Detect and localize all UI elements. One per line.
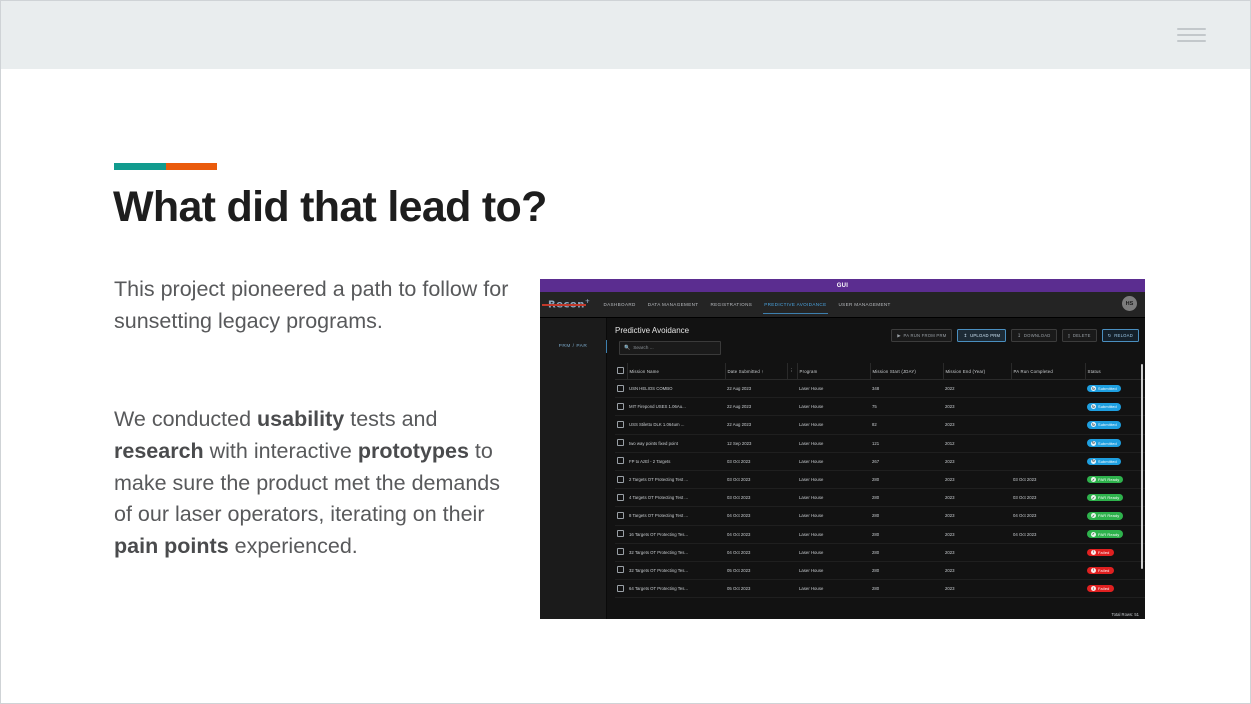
status-label: PAR Ready: [1098, 495, 1119, 500]
status-badge: ✓PAR Ready: [1087, 512, 1123, 520]
table-row[interactable]: FP to AzEl - 2 Targets03 Oct 2023Laser H…: [615, 452, 1145, 470]
cell-date-submitted: 22 Aug 2023: [725, 398, 787, 416]
nav-item-dashboard[interactable]: DASHBOARD: [602, 295, 636, 314]
cell-mission-name: 16 Targets OT Protecting Tes...: [627, 525, 725, 543]
accent-rule: [114, 163, 217, 170]
cell-mission-end: 2023: [943, 416, 1011, 434]
table-row[interactable]: 4 Targets OT Protecting Test ...03 Oct 2…: [615, 489, 1145, 507]
status-badge: ↻Submitted: [1087, 385, 1121, 393]
cell-status: ↻Submitted: [1085, 380, 1145, 398]
download-icon: ↧: [1017, 333, 1021, 339]
cell-pa-run-completed: [1011, 380, 1085, 398]
check-icon: ✓: [1091, 495, 1096, 500]
missions-table: Mission Name Date Submitted ↑ ⋮ Program …: [615, 363, 1145, 598]
col-mission-start[interactable]: Mission Start (JDAY): [870, 363, 943, 380]
cell-mission-end: 2023: [943, 507, 1011, 525]
para2-text-2: tests and: [344, 407, 437, 431]
upload-icon: ↥: [963, 333, 967, 339]
cell-pa-run-completed: [1011, 416, 1085, 434]
table-row[interactable]: 16 Targets OT Protecting Tes...04 Oct 20…: [615, 525, 1145, 543]
cell-mission-start: 280: [870, 470, 943, 488]
button-label: PA RUN FROM PRM: [903, 333, 946, 338]
cell-mission-name: 64 Targets OT Protecting Tes...: [627, 580, 725, 598]
para2-text-3: with interactive: [204, 439, 358, 463]
clock-icon: ↻: [1091, 422, 1096, 427]
button-label: DOWNLOAD: [1024, 333, 1051, 338]
cell-program: Laser House: [797, 561, 870, 579]
upload-prm-button[interactable]: ↥UPLOAD PRM: [957, 329, 1006, 342]
row-select-cell[interactable]: [615, 470, 627, 488]
clock-icon: ↻: [1091, 404, 1096, 409]
cell-program: Laser House: [797, 416, 870, 434]
col-date-submitted-label: Date Submitted: [728, 369, 760, 374]
status-badge: ↻Submitted: [1087, 421, 1121, 429]
cell-status: ↻Submitted: [1085, 416, 1145, 434]
status-badge: ✓PAR Ready: [1087, 476, 1123, 484]
row-checkbox[interactable]: [617, 421, 624, 428]
cell-program: Laser House: [797, 489, 870, 507]
slide-canvas: What did that lead to? This project pion…: [0, 0, 1251, 704]
cell-spacer: [787, 507, 797, 525]
cell-pa-run-completed: 03 Oct 2023: [1011, 470, 1085, 488]
cell-date-submitted: 04 Oct 2023: [725, 507, 787, 525]
para2-bold-research: research: [114, 439, 204, 463]
cell-status: ↻Submitted: [1085, 434, 1145, 452]
play-icon: ▶: [897, 333, 901, 339]
cell-spacer: [787, 452, 797, 470]
status-label: PAR Ready: [1098, 532, 1119, 537]
row-checkbox[interactable]: [617, 530, 624, 537]
cell-program: Laser House: [797, 398, 870, 416]
cell-mission-name: 8 Targets OT Protecting Test ...: [627, 507, 725, 525]
row-checkbox[interactable]: [617, 566, 624, 573]
table-row[interactable]: 8 Targets OT Protecting Test ...04 Oct 2…: [615, 507, 1145, 525]
status-badge: ↻Submitted: [1087, 403, 1121, 411]
cell-status: ✓PAR Ready: [1085, 525, 1145, 543]
app-sidebar: PRM / PAR: [540, 318, 607, 619]
table-row[interactable]: 2 Targets OT Protecting Test ...03 Oct 2…: [615, 470, 1145, 488]
reload-button[interactable]: ↻RELOAD: [1102, 329, 1139, 342]
total-rows-label: Total Rows: 51: [1112, 612, 1139, 617]
sort-asc-icon: ↑: [761, 369, 763, 374]
cell-pa-run-completed: [1011, 543, 1085, 561]
accent-rule-teal: [114, 163, 166, 170]
cell-spacer: [787, 434, 797, 452]
row-select-cell[interactable]: [615, 434, 627, 452]
cell-mission-name: 4 Targets OT Protecting Test ...: [627, 489, 725, 507]
cell-mission-start: 121: [870, 434, 943, 452]
cell-mission-name: 32 Targets OT Protecting Tes...: [627, 561, 725, 579]
cell-mission-start: 280: [870, 489, 943, 507]
cell-status: ✓PAR Ready: [1085, 507, 1145, 525]
pa-run-from-prm-button[interactable]: ▶PA RUN FROM PRM: [891, 329, 952, 342]
status-label: PAR Ready: [1098, 513, 1119, 518]
table-scrollbar[interactable]: [1141, 364, 1144, 569]
cell-pa-run-completed: [1011, 561, 1085, 579]
paragraph-intro: This project pioneered a path to follow …: [114, 274, 519, 338]
cell-mission-start: 280: [870, 543, 943, 561]
cell-mission-end: 2023: [943, 398, 1011, 416]
cell-mission-end: 2023: [943, 470, 1011, 488]
cell-pa-run-completed: 03 Oct 2023: [1011, 489, 1085, 507]
page-title: What did that lead to?: [113, 183, 813, 232]
app-screenshot: GUI Recon+ DASHBOARDDATA MANAGEMENTREGIS…: [540, 279, 1145, 619]
row-checkbox[interactable]: [617, 439, 624, 446]
cell-spacer: [787, 561, 797, 579]
cell-date-submitted: 05 Oct 2023: [725, 580, 787, 598]
col-menu[interactable]: ⋮: [787, 363, 797, 380]
hamburger-icon[interactable]: [1177, 28, 1206, 42]
status-label: Submitted: [1098, 386, 1117, 391]
app-toolbar-buttons: ▶PA RUN FROM PRM↥UPLOAD PRM↧DOWNLOAD▯DEL…: [891, 329, 1139, 342]
cell-status: !Failed: [1085, 543, 1145, 561]
cell-mission-start: 267: [870, 452, 943, 470]
row-checkbox[interactable]: [617, 548, 624, 555]
app-toolbar-row: 🔍 Search ... ▶PA RUN FROM PRM↥UPLOAD PRM…: [615, 341, 1139, 355]
cell-mission-end: 2012: [943, 434, 1011, 452]
status-badge: ✓PAR Ready: [1087, 530, 1123, 538]
cell-mission-start: 280: [870, 507, 943, 525]
table-header-row: Mission Name Date Submitted ↑ ⋮ Program …: [615, 363, 1145, 380]
reload-icon: ↻: [1108, 333, 1112, 339]
cell-mission-end: 2023: [943, 525, 1011, 543]
cell-mission-end: 2023: [943, 489, 1011, 507]
cell-spacer: [787, 416, 797, 434]
cell-program: Laser House: [797, 380, 870, 398]
row-checkbox[interactable]: [617, 476, 624, 483]
cell-pa-run-completed: [1011, 398, 1085, 416]
missions-table-body: USN HELIOS COMBO22 Aug 2023Laser House34…: [615, 380, 1145, 598]
nav-item-registrations[interactable]: REGISTRATIONS: [709, 295, 753, 314]
alert-icon: !: [1091, 568, 1096, 573]
status-badge: !Failed: [1087, 567, 1114, 575]
clock-icon: ↻: [1091, 386, 1096, 391]
col-mission-end[interactable]: Mission End (Year): [943, 363, 1011, 380]
cell-spacer: [787, 525, 797, 543]
cell-date-submitted: 03 Oct 2023: [725, 489, 787, 507]
cell-spacer: [787, 489, 797, 507]
cell-program: Laser House: [797, 434, 870, 452]
row-select-cell[interactable]: [615, 452, 627, 470]
row-select-cell[interactable]: [615, 416, 627, 434]
cell-spacer: [787, 543, 797, 561]
cell-mission-name: 2 Targets OT Protecting Test ...: [627, 470, 725, 488]
missions-table-head: Mission Name Date Submitted ↑ ⋮ Program …: [615, 363, 1145, 380]
app-navbar: Recon+ DASHBOARDDATA MANAGEMENTREGISTRAT…: [540, 292, 1145, 318]
row-select-cell[interactable]: [615, 525, 627, 543]
para2-bold-pain-points: pain points: [114, 534, 229, 558]
select-all-cell[interactable]: [615, 363, 627, 380]
col-status[interactable]: Status: [1085, 363, 1145, 380]
cell-date-submitted: 12 Sep 2023: [725, 434, 787, 452]
cell-mission-name: two way points fixed point: [627, 434, 725, 452]
row-select-cell[interactable]: [615, 561, 627, 579]
cell-mission-end: 2023: [943, 543, 1011, 561]
cell-date-submitted: 03 Oct 2023: [725, 470, 787, 488]
row-checkbox[interactable]: [617, 457, 624, 464]
cell-mission-name: FP to AzEl - 2 Targets: [627, 452, 725, 470]
status-badge: ↻Submitted: [1087, 439, 1121, 447]
table-row[interactable]: two way points fixed point12 Sep 2023Las…: [615, 434, 1145, 452]
cell-date-submitted: 04 Oct 2023: [725, 543, 787, 561]
delete-button[interactable]: ▯DELETE: [1062, 329, 1097, 342]
col-mission-name[interactable]: Mission Name: [627, 363, 725, 380]
trash-icon: ▯: [1068, 333, 1071, 339]
cell-program: Laser House: [797, 580, 870, 598]
row-select-cell[interactable]: [615, 489, 627, 507]
table-row[interactable]: 32 Targets OT Protecting Tes...04 Oct 20…: [615, 543, 1145, 561]
sidebar-item-prm-par[interactable]: PRM / PAR: [540, 340, 606, 353]
status-label: Failed: [1098, 568, 1110, 573]
col-pa-run-completed[interactable]: PA Run Completed: [1011, 363, 1085, 380]
row-checkbox[interactable]: [617, 512, 624, 519]
row-select-cell[interactable]: [615, 507, 627, 525]
table-row[interactable]: 64 Targets OT Protecting Tes...05 Oct 20…: [615, 580, 1145, 598]
status-label: Failed: [1098, 550, 1110, 555]
cell-status: ↻Submitted: [1085, 452, 1145, 470]
status-badge: !Failed: [1087, 585, 1114, 593]
cell-status: !Failed: [1085, 561, 1145, 579]
cell-pa-run-completed: [1011, 580, 1085, 598]
para2-text-1: We conducted: [114, 407, 257, 431]
cell-date-submitted: 05 Oct 2023: [725, 561, 787, 579]
status-label: Submitted: [1098, 422, 1117, 427]
download-button[interactable]: ↧DOWNLOAD: [1011, 329, 1056, 342]
cell-date-submitted: 03 Oct 2023: [725, 452, 787, 470]
cell-program: Laser House: [797, 507, 870, 525]
cell-status: ✓PAR Ready: [1085, 470, 1145, 488]
cell-mission-start: 82: [870, 416, 943, 434]
cell-pa-run-completed: [1011, 434, 1085, 452]
row-checkbox[interactable]: [617, 585, 624, 592]
clock-icon: ↻: [1091, 441, 1096, 446]
cell-spacer: [787, 470, 797, 488]
cell-program: Laser House: [797, 525, 870, 543]
row-select-cell[interactable]: [615, 543, 627, 561]
table-row[interactable]: USS Stiletto DLK 1.064um ...22 Aug 2023L…: [615, 416, 1145, 434]
cell-mission-start: 75: [870, 398, 943, 416]
row-checkbox[interactable]: [617, 494, 624, 501]
cell-pa-run-completed: 04 Oct 2023: [1011, 525, 1085, 543]
cell-status: ✓PAR Ready: [1085, 489, 1145, 507]
clock-icon: ↻: [1091, 459, 1096, 464]
row-select-cell[interactable]: [615, 380, 627, 398]
cell-mission-start: 348: [870, 380, 943, 398]
accent-rule-orange: [166, 163, 218, 170]
status-badge: ↻Submitted: [1087, 458, 1121, 466]
status-badge: ✓PAR Ready: [1087, 494, 1123, 502]
cell-pa-run-completed: [1011, 452, 1085, 470]
cell-mission-end: 2023: [943, 580, 1011, 598]
status-label: Submitted: [1098, 441, 1117, 446]
cell-status: ↻Submitted: [1085, 398, 1145, 416]
row-checkbox[interactable]: [617, 385, 624, 392]
cell-mission-end: 2023: [943, 561, 1011, 579]
row-select-cell[interactable]: [615, 580, 627, 598]
app-main-content: Predictive Avoidance 🔍 Search ... ▶PA RU…: [607, 318, 1145, 619]
cell-mission-end: 2023: [943, 452, 1011, 470]
app-body: PRM / PAR Predictive Avoidance 🔍 Search …: [540, 318, 1145, 619]
cell-mission-start: 280: [870, 561, 943, 579]
button-label: RELOAD: [1114, 333, 1133, 338]
cell-date-submitted: 22 Aug 2023: [725, 416, 787, 434]
status-label: Submitted: [1098, 404, 1117, 409]
avatar[interactable]: HS: [1122, 296, 1137, 311]
cell-mission-name: MIT Firepond USES 1.06Au...: [627, 398, 725, 416]
search-input[interactable]: 🔍 Search ...: [619, 341, 721, 355]
cell-mission-start: 280: [870, 525, 943, 543]
nav-item-data-management[interactable]: DATA MANAGEMENT: [647, 295, 700, 314]
app-logo[interactable]: Recon+: [548, 298, 590, 310]
status-label: Submitted: [1098, 459, 1117, 464]
app-window-title: GUI: [540, 279, 1145, 292]
row-select-cell[interactable]: [615, 398, 627, 416]
cell-mission-start: 280: [870, 580, 943, 598]
cell-mission-name: USN HELIOS COMBO: [627, 380, 725, 398]
select-all-checkbox[interactable]: [617, 367, 624, 374]
cell-mission-name: 32 Targets OT Protecting Tes...: [627, 543, 725, 561]
nav-item-user-management[interactable]: USER MANAGEMENT: [838, 295, 892, 314]
check-icon: ✓: [1091, 477, 1096, 482]
cell-spacer: [787, 580, 797, 598]
search-placeholder: Search ...: [633, 346, 654, 351]
table-row[interactable]: USN HELIOS COMBO22 Aug 2023Laser House34…: [615, 380, 1145, 398]
button-label: UPLOAD PRM: [970, 333, 1000, 338]
cell-date-submitted: 04 Oct 2023: [725, 525, 787, 543]
col-program[interactable]: Program: [797, 363, 870, 380]
nav-item-predictive-avoidance[interactable]: PREDICTIVE AVOIDANCE: [763, 295, 827, 314]
para2-bold-usability: usability: [257, 407, 344, 431]
cell-spacer: [787, 380, 797, 398]
logo-strike: [542, 304, 586, 305]
cell-status: !Failed: [1085, 580, 1145, 598]
status-badge: !Failed: [1087, 549, 1114, 557]
slide-top-bar: [1, 1, 1250, 69]
paragraph-research: We conducted usability tests and researc…: [114, 404, 514, 563]
button-label: DELETE: [1073, 333, 1091, 338]
app-nav-items: DASHBOARDDATA MANAGEMENTREGISTRATIONSPRE…: [602, 295, 901, 314]
search-icon: 🔍: [624, 345, 630, 351]
check-icon: ✓: [1091, 532, 1096, 537]
col-date-submitted[interactable]: Date Submitted ↑: [725, 363, 787, 380]
status-label: Failed: [1098, 586, 1110, 591]
cell-spacer: [787, 398, 797, 416]
cell-mission-name: USS Stiletto DLK 1.064um ...: [627, 416, 725, 434]
cell-pa-run-completed: 04 Oct 2023: [1011, 507, 1085, 525]
cell-program: Laser House: [797, 470, 870, 488]
cell-program: Laser House: [797, 543, 870, 561]
cell-date-submitted: 22 Aug 2023: [725, 380, 787, 398]
alert-icon: !: [1091, 586, 1096, 591]
table-row[interactable]: MIT Firepond USES 1.06Au...22 Aug 2023La…: [615, 398, 1145, 416]
para2-text-5: experienced.: [229, 534, 358, 558]
cell-mission-end: 2022: [943, 380, 1011, 398]
table-row[interactable]: 32 Targets OT Protecting Tes...05 Oct 20…: [615, 561, 1145, 579]
para2-bold-prototypes: prototypes: [358, 439, 469, 463]
cell-program: Laser House: [797, 452, 870, 470]
row-checkbox[interactable]: [617, 403, 624, 410]
alert-icon: !: [1091, 550, 1096, 555]
status-label: PAR Ready: [1098, 477, 1119, 482]
check-icon: ✓: [1091, 513, 1096, 518]
